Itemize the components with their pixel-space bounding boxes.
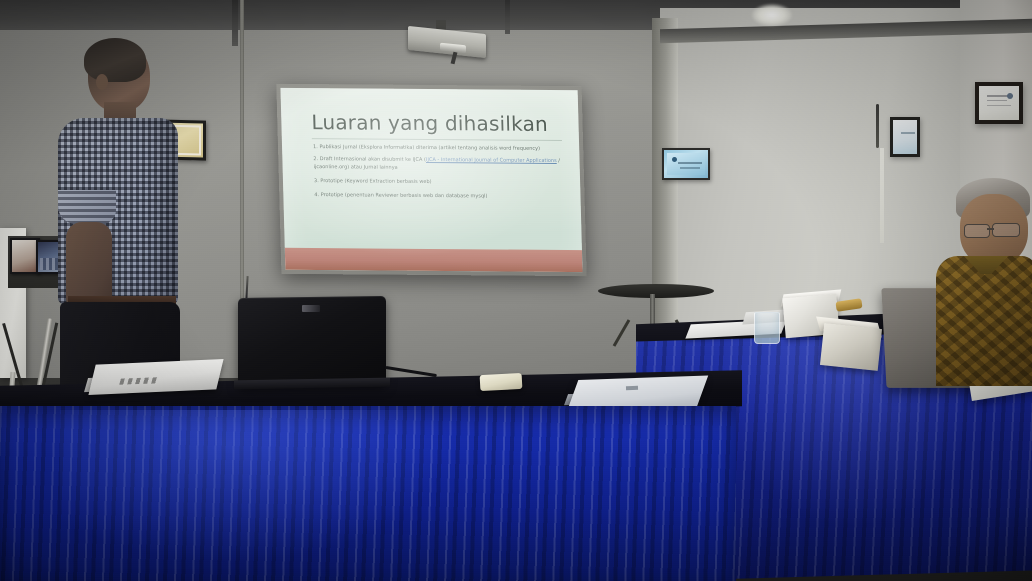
slide-bullet-1-text: Publikasi Jurnal (Eksplora Informatika) … (319, 144, 540, 152)
standing-presenter (52, 40, 182, 400)
laptop-logo-icon (302, 305, 320, 312)
catering-box (820, 323, 882, 371)
slide-title-rule (312, 138, 562, 141)
eyeglasses-bridge (987, 228, 994, 230)
slide-hyperlink[interactable]: IJCA - International Journal of Computer… (426, 157, 557, 164)
eyeglasses-icon (992, 223, 1020, 237)
reviewer-batik-shirt (936, 256, 1032, 386)
slide-bullet-4: 4. Prototipe (penentuan Reviewer berbasi… (314, 192, 566, 201)
round-side-table (598, 284, 714, 298)
whiteboard-eraser[interactable] (480, 373, 523, 391)
drinking-glass (754, 312, 780, 344)
ceiling-seam (232, 0, 238, 46)
slide-bullet-2-number: 2. (313, 156, 318, 162)
presentation-slide: Luaran yang dihasilkan 1. Publikasi Jurn… (280, 88, 582, 272)
slide-bullet-3-text: Prototipe (Keyword Extraction berbasis w… (320, 178, 431, 185)
slide-bullet-4-text: Prototipe (penentuan Reviewer berbasis w… (321, 192, 488, 199)
slide-bullet-2-text-before: Draft Internasional akan disubmit ke IJC… (320, 156, 426, 163)
meeting-room-photo: Luaran yang dihasilkan 1. Publikasi Jurn… (0, 0, 1032, 581)
certificate-text-line (987, 105, 1011, 106)
eyeglasses-icon (964, 224, 990, 238)
wall-pipe (240, 0, 244, 300)
certificate-seal-icon (1007, 93, 1013, 99)
framed-certificate-small (890, 117, 920, 157)
slide-title: Luaran yang dihasilkan (311, 110, 548, 136)
ceiling-light (752, 4, 792, 26)
ceiling-seam-secondary (505, 0, 510, 34)
presenter-sleeve (58, 190, 116, 224)
certificate-text-line (901, 132, 915, 134)
seated-reviewer (940, 178, 1032, 398)
slide-bullet-2: 2. Draft Internasional akan disubmit ke … (313, 156, 566, 173)
framed-certificate-large (975, 82, 1023, 124)
slide-bullet-1: 1. Publikasi Jurnal (Eksplora Informatik… (313, 144, 565, 153)
foreground-table-skirt (0, 406, 736, 581)
slide-bullet-3: 3. Prototipe (Keyword Extraction berbasi… (314, 178, 566, 187)
plaque-text-line (678, 162, 702, 164)
folder-clip-icon (626, 386, 638, 390)
slide-bullet-3-number: 3. (314, 178, 319, 184)
certificate-text-line (987, 100, 1007, 101)
plaque-text-line (680, 167, 700, 169)
projection-screen: Luaran yang dihasilkan 1. Publikasi Jurn… (276, 84, 586, 276)
wall-cable (876, 104, 879, 148)
presenter-hair (84, 38, 146, 82)
slide-bullet-4-number: 4. (314, 192, 319, 198)
presenter-ear (96, 74, 108, 90)
slide-bullet-1-number: 1. (313, 144, 318, 150)
wall-strip (880, 148, 884, 243)
plaque-logo-icon (672, 157, 677, 162)
slide-footer-band (285, 248, 583, 272)
plaque-inner (667, 153, 705, 175)
blue-award-plaque (662, 148, 710, 180)
